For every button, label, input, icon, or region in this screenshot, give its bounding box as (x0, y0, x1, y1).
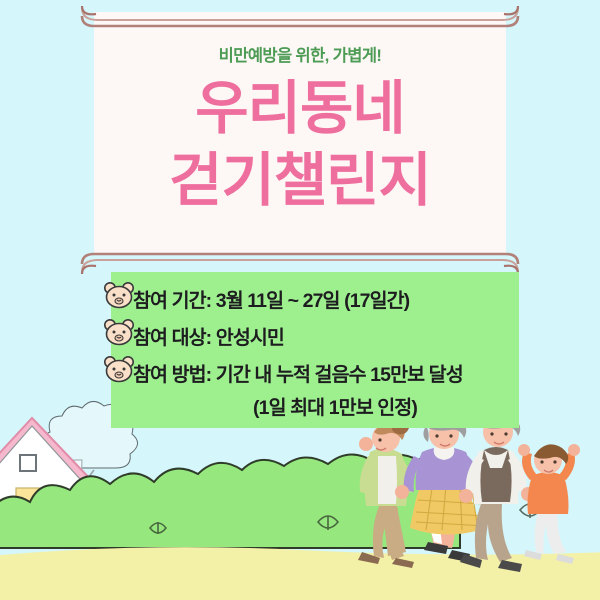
title-frame: 비만예방을 위한, 가볍게! 우리동네 걷기챌린지 (94, 12, 506, 254)
info-box: 참여 기간: 3월 11일 ~ 27일 (17일간) 참여 대상: 안성시민 (111, 272, 519, 428)
info-row-period: 참여 기간: 3월 11일 ~ 27일 (17일간) (133, 284, 511, 313)
poster-root: 비만예방을 위한, 가볍게! 우리동네 걷기챌린지 참여 기간: 3월 11일 … (0, 0, 600, 600)
bear-face-icon (103, 280, 137, 310)
poster-title-line1: 우리동네 (94, 80, 506, 138)
info-note: (1일 최대 1만보 인정) (111, 391, 519, 420)
info-method-label: 참여 방법: 기간 내 누적 걸음수 15만보 달성 (133, 364, 463, 386)
info-row-method: 참여 방법: 기간 내 누적 걸음수 15만보 달성 (133, 358, 511, 387)
info-period-label: 참여 기간: 3월 11일 ~ 27일 (17일간) (133, 290, 409, 312)
bear-face-icon (103, 354, 137, 384)
info-target-label: 참여 대상: 안성시민 (133, 327, 284, 349)
bear-face-icon (103, 317, 137, 347)
info-row-target: 참여 대상: 안성시민 (133, 321, 511, 350)
poster-title-line2: 걷기챌린지 (94, 152, 506, 210)
poster-subtitle: 비만예방을 위한, 가볍게! (94, 42, 506, 66)
